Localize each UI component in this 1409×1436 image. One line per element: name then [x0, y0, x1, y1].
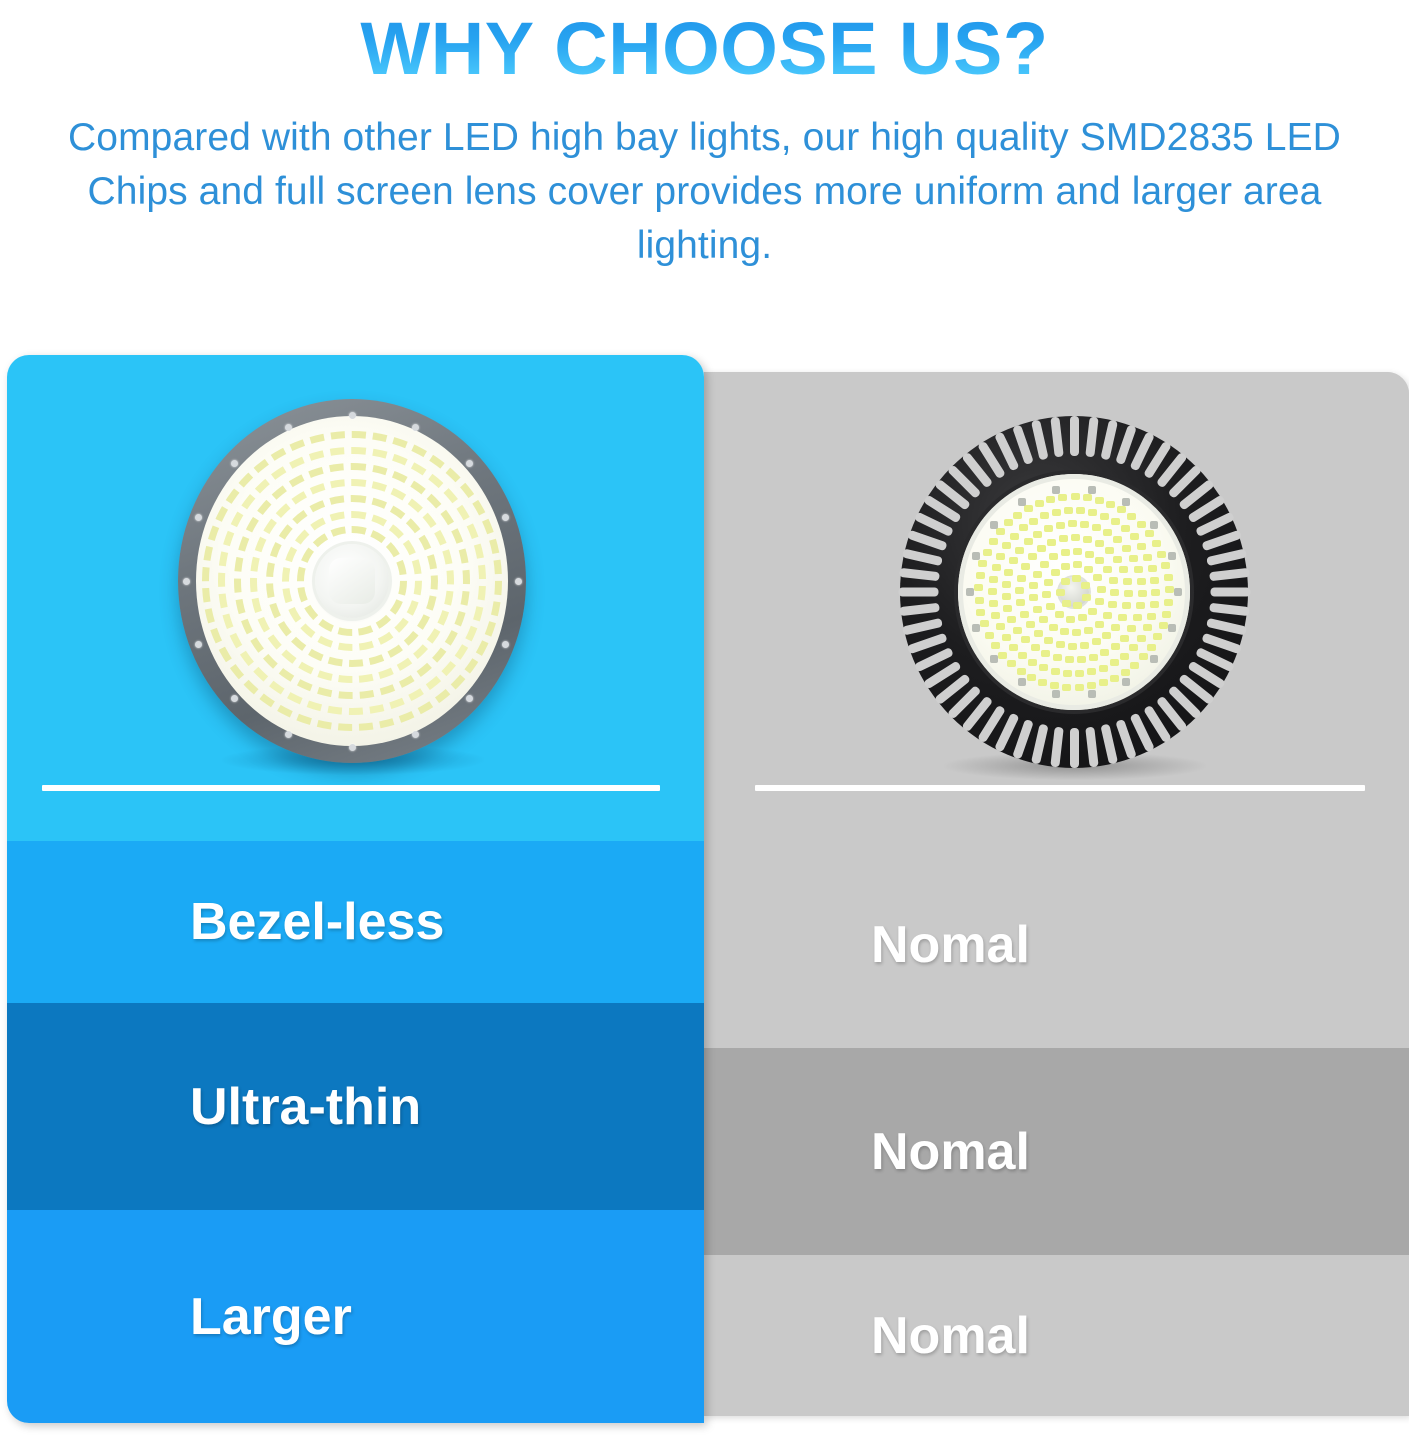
led-chip — [1073, 602, 1082, 609]
led-chip — [1083, 536, 1092, 543]
led-chip — [978, 560, 987, 567]
led-chip — [1051, 569, 1060, 576]
led-chip — [991, 642, 1000, 649]
led-chip — [1039, 616, 1048, 623]
led-chip — [1083, 494, 1092, 501]
led-chip — [1134, 566, 1143, 573]
bezel-screw — [195, 514, 202, 521]
comparison-row-ours-1: Bezel-less — [7, 841, 704, 1003]
led-chip — [1021, 636, 1030, 643]
lens-screw — [966, 588, 974, 596]
lens-screw — [972, 552, 980, 560]
led-chip — [1150, 577, 1159, 584]
led-chip — [1041, 650, 1050, 657]
led-chip — [1119, 566, 1128, 573]
led-chip — [1100, 513, 1109, 520]
led-chip — [1100, 649, 1109, 656]
led-chip — [1068, 643, 1077, 650]
led-chip — [983, 549, 992, 556]
led-chip — [1027, 674, 1036, 681]
heat-sink-fin — [1070, 416, 1079, 456]
bezel-screw — [515, 578, 522, 585]
led-chip — [1021, 563, 1030, 570]
product-lens — [196, 416, 508, 746]
led-chip — [1111, 518, 1120, 525]
led-chip — [1103, 612, 1112, 619]
led-chip — [1073, 561, 1082, 568]
led-chip — [991, 612, 1000, 619]
comparison-row-ours-2: Ultra-thin — [7, 1003, 704, 1210]
led-chip — [1084, 627, 1093, 634]
comparison-row-ours-3: Larger — [7, 1210, 704, 1423]
led-chip — [1095, 497, 1104, 504]
led-chip — [1129, 555, 1138, 562]
bezel-screw — [502, 641, 509, 648]
heat-sink-fin — [1206, 548, 1247, 566]
led-chip — [1031, 644, 1040, 651]
led-chip — [1121, 525, 1130, 532]
led-chip — [975, 597, 984, 604]
led-chip — [1013, 512, 1022, 519]
led-chip — [1129, 644, 1138, 651]
led-chip — [1035, 500, 1044, 507]
other-product-panel: Nomal Nomal Nomal — [704, 372, 1409, 1416]
led-chip — [1071, 493, 1080, 500]
heat-sink-fin — [901, 618, 942, 636]
led-chip — [1117, 506, 1126, 513]
led-chip — [1044, 579, 1053, 586]
led-chip — [1068, 520, 1077, 527]
led-chip — [1029, 518, 1038, 525]
led-chip — [1050, 682, 1059, 689]
led-chip — [1136, 602, 1145, 609]
led-chip — [1111, 624, 1120, 631]
led-chip — [1017, 575, 1026, 582]
product-housing — [900, 416, 1248, 768]
led-chip — [1118, 614, 1127, 621]
led-chip — [980, 620, 989, 627]
led-chip — [976, 609, 985, 616]
led-chip — [1108, 601, 1117, 608]
led-chip — [1095, 621, 1104, 628]
led-chip — [1164, 599, 1173, 606]
led-chip — [1130, 662, 1139, 669]
bezel-screw — [412, 731, 419, 738]
led-chip — [1018, 652, 1027, 659]
led-chip — [1080, 521, 1089, 528]
heat-sink-fin — [1050, 727, 1063, 768]
lens-screw — [1018, 678, 1026, 686]
led-chip — [1124, 590, 1133, 597]
led-chip — [1071, 534, 1080, 541]
comparison-row-other-1: Nomal — [704, 841, 1409, 1048]
lens-screw — [1168, 624, 1176, 632]
heat-sink-fin — [1050, 417, 1063, 458]
led-chip — [1046, 496, 1055, 503]
led-chip — [1051, 668, 1060, 675]
led-chip — [989, 538, 998, 545]
other-product-rows: Nomal Nomal Nomal — [704, 841, 1409, 1416]
other-product-hero — [704, 372, 1409, 841]
led-chip — [1039, 664, 1048, 671]
lens-screw — [1150, 521, 1158, 529]
led-chip — [1034, 630, 1043, 637]
led-chip — [1103, 566, 1112, 573]
led-chip — [1120, 635, 1129, 642]
lens-screw — [1052, 690, 1060, 698]
led-chip — [1130, 533, 1139, 540]
bezel-screw — [183, 578, 190, 585]
led-chip — [1148, 565, 1157, 572]
led-chip — [1110, 675, 1119, 682]
led-chip — [1002, 581, 1011, 588]
led-chip — [1002, 593, 1011, 600]
lens-screw — [1088, 486, 1096, 494]
led-chip — [1123, 578, 1132, 585]
heat-sink-fin — [901, 548, 942, 566]
comparison-row-other-3: Nomal — [704, 1255, 1409, 1416]
led-chip — [1085, 551, 1094, 558]
led-chip — [1062, 684, 1071, 691]
led-chip — [1060, 628, 1069, 635]
led-chip — [988, 588, 997, 595]
led-chip — [985, 632, 994, 639]
led-chip — [1111, 643, 1120, 650]
led-chip — [1059, 535, 1068, 542]
led-chip — [1110, 589, 1119, 596]
lens-screw — [1122, 678, 1130, 686]
led-chip — [1061, 549, 1070, 556]
led-chip — [1049, 624, 1058, 631]
lens-screw — [1088, 690, 1096, 698]
led-chip — [1106, 501, 1115, 508]
led-chip — [1092, 524, 1101, 531]
our-product-hero — [7, 355, 704, 841]
led-chip — [1127, 513, 1136, 520]
led-chip — [1013, 627, 1022, 634]
led-chip — [1105, 547, 1114, 554]
led-chip — [1076, 507, 1085, 514]
led-chip — [1095, 557, 1104, 564]
led-chip — [1139, 653, 1148, 660]
product-lens — [958, 474, 1190, 710]
led-chip — [1037, 545, 1046, 552]
led-chip — [1164, 574, 1173, 581]
bezel-screw — [466, 695, 473, 702]
led-chip — [1028, 553, 1037, 560]
led-chip — [1065, 656, 1074, 663]
led-chip — [1004, 519, 1013, 526]
led-chip — [1046, 603, 1055, 610]
heat-sink-fin — [1030, 419, 1048, 460]
led-chip — [1080, 642, 1089, 649]
led-chip — [1099, 665, 1108, 672]
page-subtitle: Compared with other LED high bay lights,… — [0, 111, 1409, 273]
led-chip — [1113, 556, 1122, 563]
led-chip — [1003, 605, 1012, 612]
lens-screw — [1018, 498, 1026, 506]
led-chip — [1138, 590, 1147, 597]
led-chip — [1087, 682, 1096, 689]
led-chip — [1019, 524, 1028, 531]
lens-screw — [990, 521, 998, 529]
bezel-screw — [502, 514, 509, 521]
led-chip — [1004, 569, 1013, 576]
led-chip — [1026, 621, 1035, 628]
led-chip — [1089, 654, 1098, 661]
led-chip — [1097, 586, 1106, 593]
bezel-screw — [285, 731, 292, 738]
divider-line-left — [42, 785, 660, 791]
led-chip — [1121, 669, 1130, 676]
led-chip — [1009, 644, 1018, 651]
led-chip — [1033, 571, 1042, 578]
row-label: Ultra-thin — [190, 1077, 421, 1137]
led-chip — [1088, 509, 1097, 516]
led-chip — [1029, 594, 1038, 601]
bezel-screw — [349, 412, 356, 419]
heat-sink-fin — [1085, 727, 1098, 768]
led-chip — [1056, 641, 1065, 648]
heat-sink-fin — [1100, 724, 1118, 765]
bezel-screw — [195, 641, 202, 648]
led-chip — [1029, 582, 1038, 589]
heat-sink-fin — [898, 588, 938, 597]
comparison-board: Nomal Nomal Nomal — [0, 352, 1409, 1432]
led-chip — [1033, 606, 1042, 613]
led-chip — [1109, 577, 1118, 584]
led-chip — [1066, 616, 1075, 623]
led-chip — [1049, 553, 1058, 560]
lens-screw — [1174, 588, 1182, 596]
led-chip — [1047, 539, 1056, 546]
led-chip — [1092, 638, 1101, 645]
led-chip — [1072, 629, 1081, 636]
led-chip — [996, 553, 1005, 560]
led-chip — [1040, 512, 1049, 519]
divider-line-right — [755, 785, 1365, 791]
led-chip — [1113, 536, 1122, 543]
heat-sink-fin — [1210, 588, 1250, 597]
comparison-row-other-2: Nomal — [704, 1048, 1409, 1255]
bezel-screw — [412, 424, 419, 431]
led-chip — [1062, 600, 1071, 607]
led-chip — [1044, 637, 1053, 644]
led-chip — [1161, 562, 1170, 569]
led-chip — [1053, 654, 1062, 661]
led-chip — [1033, 531, 1042, 538]
led-chip — [1133, 614, 1142, 621]
led-chip — [1122, 602, 1131, 609]
led-chip — [1002, 634, 1011, 641]
led-chip — [1137, 635, 1146, 642]
led-chip — [1150, 601, 1159, 608]
led-chip — [1153, 633, 1162, 640]
led-chip — [1015, 547, 1024, 554]
heat-sink-fin — [899, 568, 940, 581]
led-chip — [1040, 561, 1049, 568]
heat-sink-fin — [1209, 568, 1250, 581]
led-chip — [989, 600, 998, 607]
lens-screw — [1168, 552, 1176, 560]
led-chip — [1151, 589, 1160, 596]
led-chip — [1095, 598, 1104, 605]
lens-screw — [1150, 655, 1158, 663]
led-chip — [1052, 509, 1061, 516]
heat-sink-fin — [1209, 603, 1250, 616]
led-chip — [1016, 599, 1025, 606]
bezel-screw — [231, 695, 238, 702]
header: WHY CHOOSE US? Compared with other LED h… — [0, 0, 1409, 273]
bezel-screw — [349, 744, 356, 751]
other-product-image — [900, 416, 1248, 774]
led-chip — [1081, 582, 1090, 589]
led-chip — [1042, 591, 1051, 598]
led-chip — [1009, 557, 1018, 564]
led-chip — [1064, 507, 1073, 514]
led-chip — [1137, 578, 1146, 585]
led-chip — [989, 576, 998, 583]
row-label: Nomal — [871, 915, 1030, 975]
led-chip — [996, 528, 1005, 535]
led-chip — [1028, 659, 1037, 666]
led-chip — [1075, 670, 1084, 677]
led-chip — [1038, 679, 1047, 686]
led-chip — [1087, 668, 1096, 675]
led-chip — [974, 584, 983, 591]
led-chip — [1061, 563, 1070, 570]
led-chip — [1143, 624, 1152, 631]
heat-sink-fin — [1030, 724, 1048, 765]
led-chip — [1055, 611, 1064, 618]
led-chip — [996, 623, 1005, 630]
led-chip — [1056, 589, 1065, 596]
led-chip — [1075, 684, 1084, 691]
led-chip — [1063, 670, 1072, 677]
led-chip — [1103, 529, 1112, 536]
led-chip — [1024, 538, 1033, 545]
lens-screw — [1052, 486, 1060, 494]
led-chip — [1145, 530, 1154, 537]
heat-sink-fin — [1070, 728, 1079, 768]
led-chip — [1162, 611, 1171, 618]
product-bezel — [178, 399, 526, 763]
heat-sink-fin — [1206, 618, 1247, 636]
led-chip — [992, 564, 1001, 571]
row-label: Bezel-less — [190, 892, 444, 952]
led-chip — [1077, 656, 1086, 663]
led-chip — [1007, 660, 1016, 667]
led-chip — [1152, 540, 1161, 547]
led-ring — [297, 526, 407, 636]
led-chip — [1002, 542, 1011, 549]
led-chip — [1137, 543, 1146, 550]
led-chip — [1082, 594, 1091, 601]
led-chip — [1007, 616, 1016, 623]
led-chip — [1072, 575, 1081, 582]
led-chip — [1147, 644, 1156, 651]
led-chip — [1120, 653, 1129, 660]
led-chip — [1061, 578, 1070, 585]
row-label: Larger — [190, 1287, 352, 1347]
led-chip — [1010, 533, 1019, 540]
led-chip — [1165, 586, 1174, 593]
led-chip — [1044, 525, 1053, 532]
led-chip — [1093, 574, 1102, 581]
heat-sink-fin — [1100, 419, 1118, 460]
lens-screw — [1122, 498, 1130, 506]
led-chip — [1024, 505, 1033, 512]
our-product-image — [172, 399, 532, 771]
led-chip — [1073, 548, 1082, 555]
led-chip — [1137, 521, 1146, 528]
our-product-rows: Bezel-less Ultra-thin Larger — [7, 841, 704, 1423]
why-choose-us-page: WHY CHOOSE US? Compared with other LED h… — [0, 0, 1409, 1436]
led-chip — [1015, 587, 1024, 594]
lens-screw — [972, 624, 980, 632]
row-label: Nomal — [871, 1306, 1030, 1366]
led-chip — [1102, 632, 1111, 639]
led-chip — [1127, 625, 1136, 632]
bezel-screw — [466, 460, 473, 467]
led-chip — [1099, 679, 1108, 686]
heat-sink-fin — [899, 603, 940, 616]
page-title: WHY CHOOSE US? — [0, 0, 1409, 95]
led-chip — [1143, 554, 1152, 561]
led-chip — [1017, 668, 1026, 675]
led-chip — [1084, 566, 1093, 573]
row-label: Nomal — [871, 1122, 1030, 1182]
led-chip — [1020, 611, 1029, 618]
led-chip — [1095, 540, 1104, 547]
bezel-screw — [231, 460, 238, 467]
led-chip — [1078, 614, 1087, 621]
led-chip — [976, 572, 985, 579]
led-chip — [1159, 622, 1168, 629]
our-product-panel: Bezel-less Ultra-thin Larger — [7, 355, 704, 1423]
lens-screw — [990, 655, 998, 663]
led-chip — [1157, 551, 1166, 558]
led-chip — [1058, 494, 1067, 501]
led-chip — [1122, 545, 1131, 552]
led-chip — [1088, 608, 1097, 615]
led-chip — [1110, 659, 1119, 666]
led-chip — [1147, 613, 1156, 620]
heat-sink-fin — [1085, 417, 1098, 458]
led-chip — [998, 652, 1007, 659]
led-chip — [1056, 522, 1065, 529]
